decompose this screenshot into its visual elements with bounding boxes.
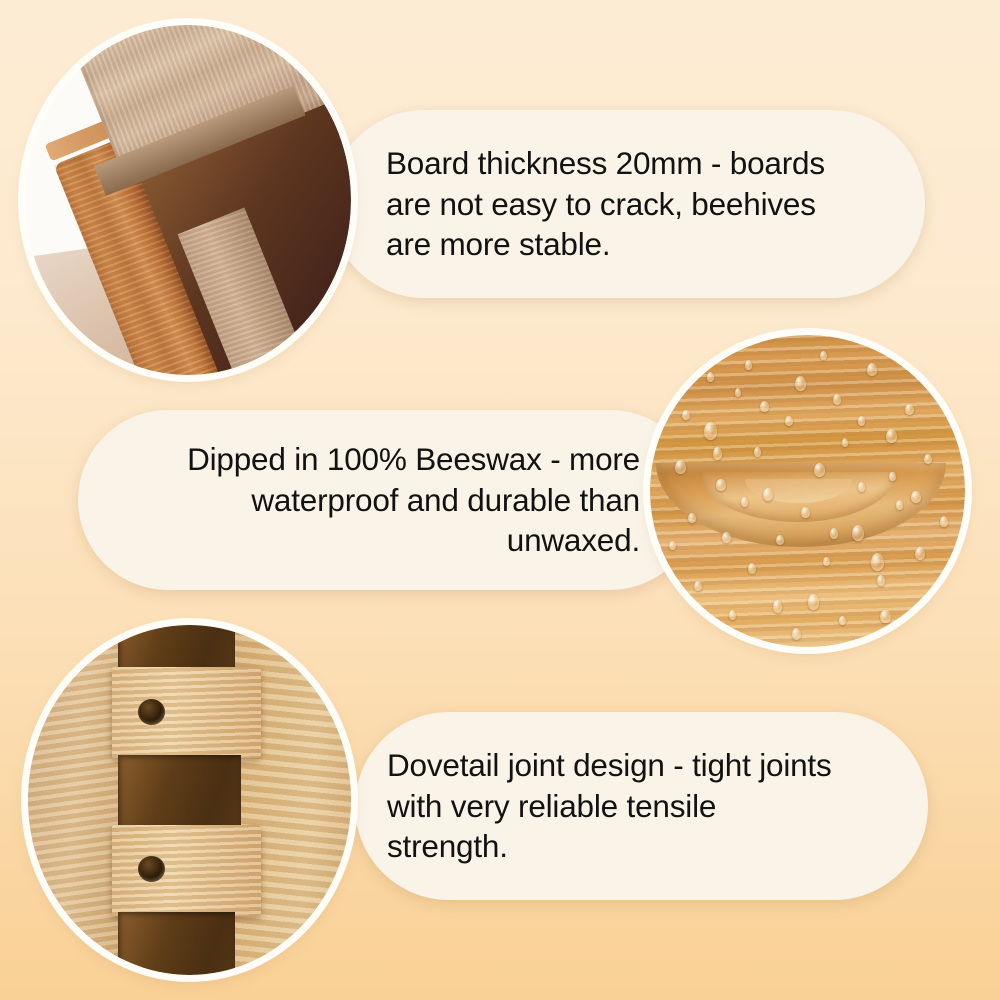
water-droplet <box>748 563 756 574</box>
water-droplets-on-wood-photo <box>650 335 965 647</box>
water-droplet <box>704 422 717 439</box>
water-droplet <box>713 447 722 459</box>
photo-3-joint-gap-bottom <box>118 912 234 975</box>
water-droplet <box>867 363 876 375</box>
photo-3-finger-upper <box>112 667 261 758</box>
photo-3-joint-gap-middle <box>118 755 241 832</box>
water-droplet <box>905 404 914 416</box>
water-droplet <box>694 581 702 591</box>
water-droplet <box>682 410 690 421</box>
water-droplet <box>745 360 753 370</box>
photo-3-finger-lower <box>112 825 261 916</box>
water-droplet <box>808 594 820 610</box>
water-droplet <box>773 600 782 612</box>
water-droplet <box>814 463 825 477</box>
water-droplet <box>792 628 801 640</box>
dovetail-joint-photo <box>28 625 351 975</box>
photo-3-content <box>28 625 351 975</box>
feature-text-board-thickness: Board thickness 20mm - boards are not ea… <box>386 143 886 266</box>
wooden-board-corner-photo <box>25 25 351 375</box>
water-droplet <box>669 541 676 550</box>
infographic-canvas: Board thickness 20mm - boards are not ea… <box>0 0 1000 1000</box>
water-droplet <box>852 525 864 541</box>
water-droplet <box>707 372 714 381</box>
water-droplet <box>820 351 827 360</box>
water-droplet <box>830 528 838 539</box>
water-droplet <box>842 438 848 447</box>
water-droplet <box>924 454 932 464</box>
water-droplet <box>915 547 925 560</box>
water-droplet <box>911 491 920 503</box>
water-droplet <box>688 513 696 524</box>
water-droplet <box>833 394 841 405</box>
feature-text-beeswax: Dipped in 100% Beeswax - more waterproof… <box>100 439 640 562</box>
water-droplet <box>934 382 940 391</box>
water-droplet <box>776 535 784 546</box>
water-droplet <box>823 557 830 566</box>
water-droplet <box>685 616 694 628</box>
water-droplet <box>940 516 948 527</box>
feature-callout-beeswax: Dipped in 100% Beeswax - more waterproof… <box>78 410 700 590</box>
water-droplet <box>754 447 761 456</box>
water-droplet <box>801 507 810 519</box>
feature-callout-dovetail: Dovetail joint design - tight joints wit… <box>355 712 928 900</box>
feature-callout-board-thickness: Board thickness 20mm - boards are not ea… <box>330 110 925 298</box>
water-droplet <box>735 388 741 397</box>
water-droplet <box>880 610 891 624</box>
water-droplet <box>716 479 725 491</box>
photo-3-joint-gap-top <box>118 625 234 671</box>
water-droplet <box>839 616 846 625</box>
water-droplet <box>886 429 897 443</box>
water-droplet <box>741 497 748 506</box>
photo-3-drill-hole-upper <box>138 699 165 725</box>
photo-2-content <box>650 335 965 647</box>
water-droplet <box>795 376 806 391</box>
water-droplet <box>729 610 737 620</box>
water-droplet <box>785 416 793 426</box>
water-droplet <box>675 460 686 474</box>
photo-1-content <box>25 25 351 375</box>
water-droplet <box>889 472 895 481</box>
water-droplet <box>760 401 769 412</box>
feature-text-dovetail: Dovetail joint design - tight joints wit… <box>387 745 897 868</box>
water-droplet <box>896 500 903 509</box>
